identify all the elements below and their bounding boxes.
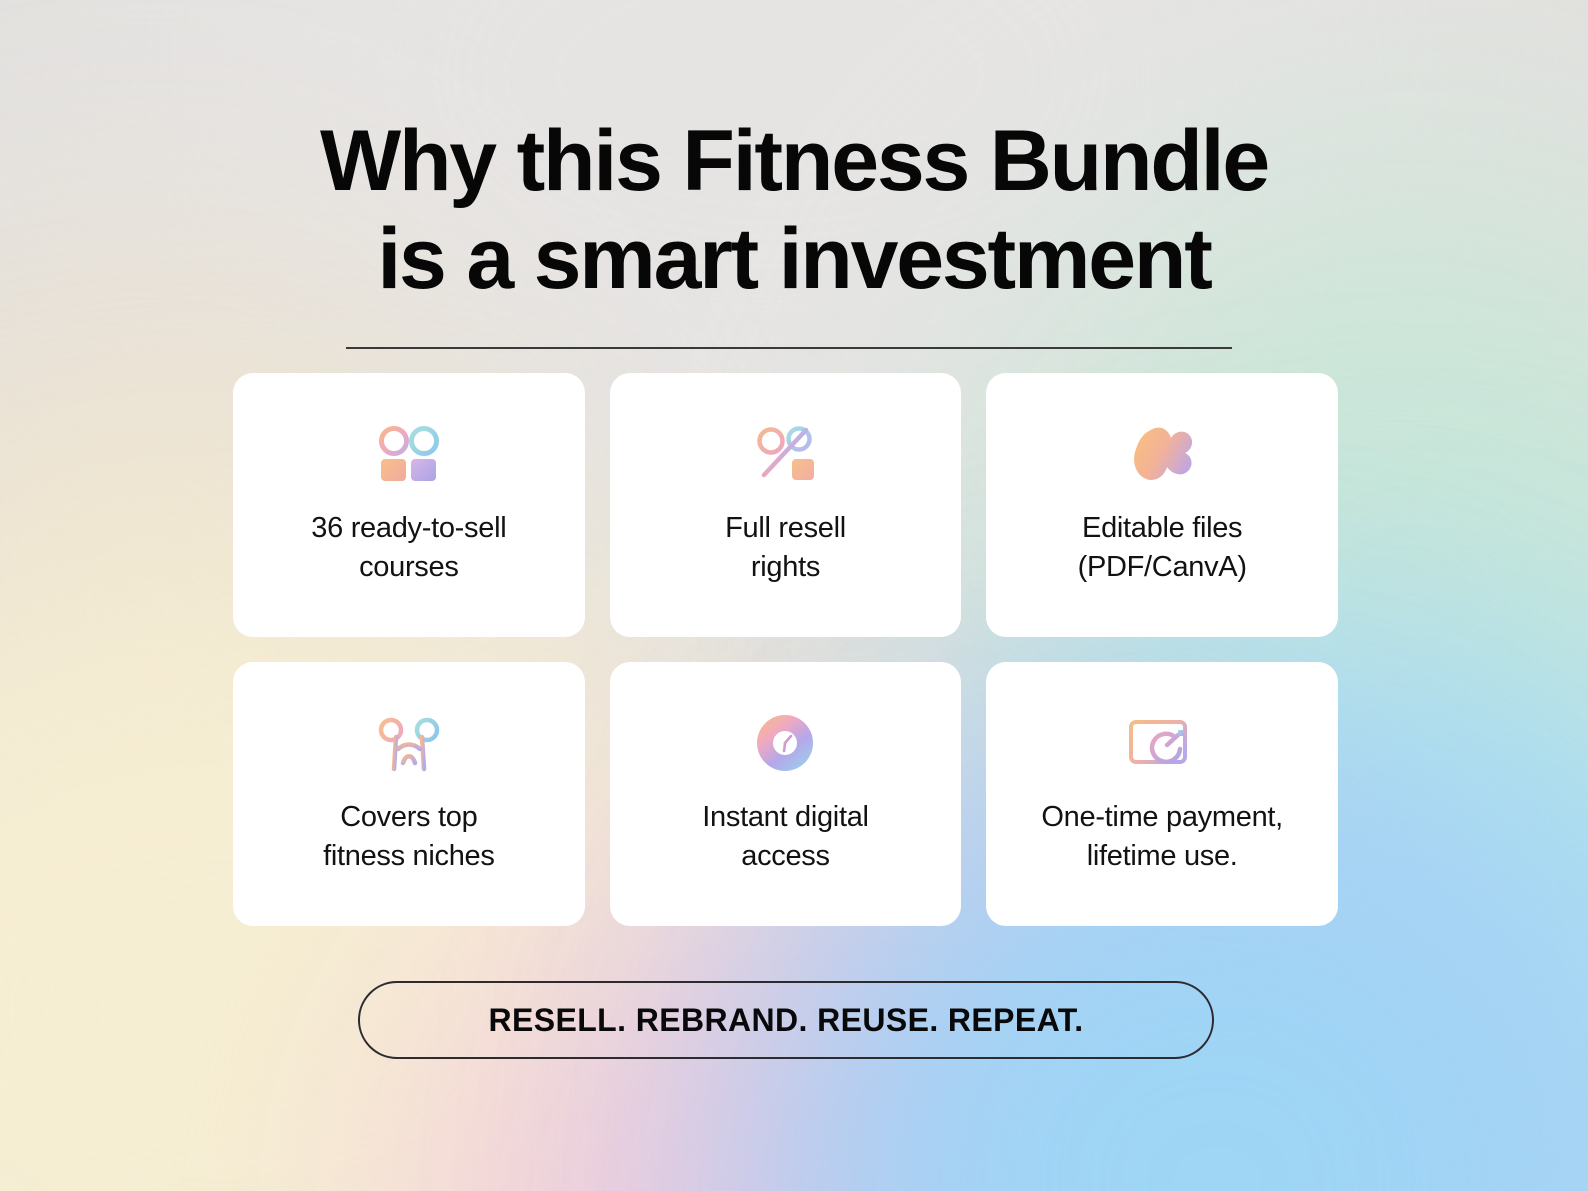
benefit-card-resell-rights[interactable]: Full resell rights (610, 373, 962, 637)
benefit-card-fitness-niches[interactable]: Covers top fitness niches (233, 662, 585, 926)
benefit-card-label: Editable files (PDF/CanvA) (1078, 509, 1247, 586)
benefit-card-label: Full resell rights (725, 509, 846, 586)
gradient-clock-icon (749, 710, 821, 776)
resell-tagline-pill[interactable]: RESELL. REBRAND. REUSE. REPEAT. (358, 981, 1214, 1059)
benefit-card-label: Covers top fitness niches (323, 798, 495, 875)
slide-content: Why this Fitness Bundle is a smart inves… (0, 0, 1588, 1191)
benefit-card-editable-files[interactable]: Editable files (PDF/CanvA) (986, 373, 1338, 637)
title-divider-rule (346, 347, 1232, 349)
benefit-card-label: One-time payment, lifetime use. (1041, 798, 1283, 875)
benefit-card-label: 36 ready-to-sell courses (311, 509, 506, 586)
blob-shape-icon (1126, 421, 1198, 487)
card-refresh-icon (1126, 710, 1198, 776)
barbell-figure-icon (373, 710, 445, 776)
benefit-card-courses[interactable]: 36 ready-to-sell courses (233, 373, 585, 637)
page-title: Why this Fitness Bundle is a smart inves… (0, 112, 1588, 308)
resell-tagline-label: RESELL. REBRAND. REUSE. REPEAT. (489, 1002, 1084, 1039)
percent-discount-icon (749, 421, 821, 487)
page-title-line-1: Why this Fitness Bundle (0, 112, 1588, 210)
benefit-card-one-time-payment[interactable]: One-time payment, lifetime use. (986, 662, 1338, 926)
page-title-line-2: is a smart investment (0, 210, 1588, 308)
benefit-card-instant-access[interactable]: Instant digital access (610, 662, 962, 926)
benefits-card-grid: 36 ready-to-sell courses (233, 373, 1338, 926)
grid-shapes-icon (373, 421, 445, 487)
benefit-card-label: Instant digital access (702, 798, 868, 875)
